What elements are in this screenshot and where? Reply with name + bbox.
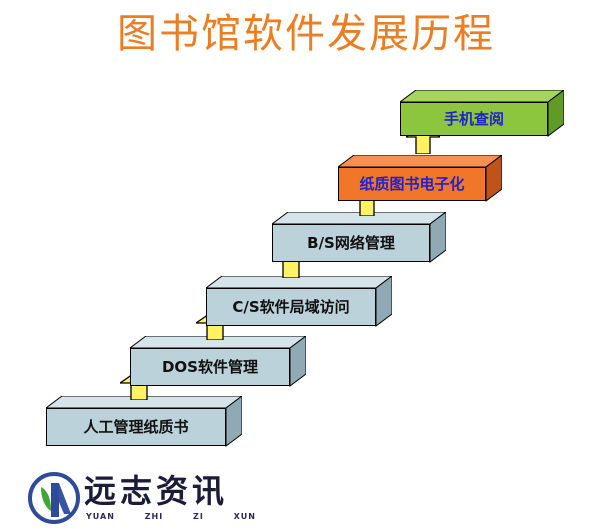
flow-step-2-label: DOS软件管理 [130, 348, 290, 386]
flow-step-3-label: C/S软件局域访问 [206, 288, 376, 326]
flow-step-3[interactable]: C/S软件局域访问 [206, 276, 376, 326]
flow-step-4-label: B/S网络管理 [272, 224, 430, 262]
logo-pinyin-4: XUN [234, 512, 256, 522]
page-title: 图书馆软件发展历程 [0, 8, 612, 60]
company-logo[interactable]: 远志资讯 YUAN ZHI ZI XUN [26, 468, 246, 528]
logo-pinyin-3: ZI [193, 512, 204, 522]
logo-pinyin-2: ZHI [145, 512, 163, 522]
logo-pinyin-1: YUAN [86, 512, 115, 522]
flow-step-6[interactable]: 手机查阅 [400, 90, 548, 136]
slide-canvas: 图书馆软件发展历程 人工管理纸质书 DOS软件管理 [0, 0, 612, 532]
flow-step-1[interactable]: 人工管理纸质书 [46, 396, 226, 446]
logo-pinyin: YUAN ZHI ZI XUN [86, 512, 256, 522]
flow-step-1-label: 人工管理纸质书 [46, 408, 226, 446]
flow-step-5[interactable]: 纸质图书电子化 [338, 155, 486, 201]
flow-step-2[interactable]: DOS软件管理 [130, 336, 290, 386]
flow-step-6-label: 手机查阅 [400, 102, 548, 136]
flow-step-5-label: 纸质图书电子化 [338, 167, 486, 201]
logo-mark-icon [26, 470, 82, 526]
logo-wordmark: 远志资讯 [84, 472, 228, 510]
flow-step-4[interactable]: B/S网络管理 [272, 212, 430, 262]
